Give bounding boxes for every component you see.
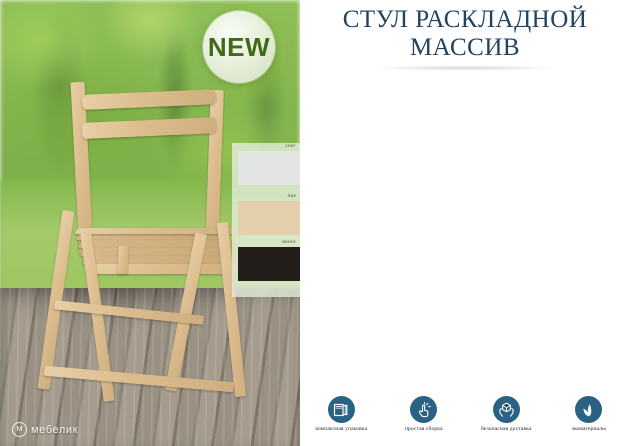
feature-label: простая сборка	[405, 426, 443, 432]
feature-easy-assembly: простая сборка	[383, 396, 466, 446]
logo-text: мебелик	[31, 424, 78, 436]
brand-logo: M мебелик	[12, 422, 78, 437]
product-photo: NEW снег лак венге M мебелик	[0, 0, 300, 446]
swatch-chip-snow	[238, 151, 300, 185]
swatch-chip-lacquer	[238, 201, 300, 235]
photo-folding-chair	[20, 82, 250, 392]
info-panel: СТУЛ РАСКЛАДНОЙ МАССИВ	[300, 0, 630, 446]
leaf-icon	[575, 396, 602, 423]
color-swatch-panel: снег лак венге	[232, 143, 300, 297]
feature-compact-packaging: компактная упаковка	[300, 396, 383, 446]
feature-eco-materials: экоматериалы	[548, 396, 630, 446]
new-badge-label: NEW	[208, 32, 270, 63]
swatch-label-wenge: венге	[282, 239, 296, 244]
swatch-label-lacquer: лак	[288, 193, 296, 198]
package-hands-icon	[493, 396, 520, 423]
feature-label: компактная упаковка	[315, 426, 367, 432]
swatch-chip-wenge	[238, 247, 300, 281]
title-line-1: СТУЛ РАСКЛАДНОЙ	[343, 6, 588, 33]
new-badge: NEW	[203, 11, 275, 83]
title-underline-shadow	[338, 64, 592, 72]
ruler-box-icon	[328, 396, 355, 423]
feature-label: безопасная доставка	[481, 426, 532, 432]
feature-label: экоматериалы	[572, 426, 606, 432]
product-infographic: NEW снег лак венге M мебелик СТУЛ РА	[0, 0, 630, 446]
logo-mark-icon: M	[12, 422, 27, 437]
title-line-2: МАССИВ	[300, 34, 630, 62]
hand-tap-icon	[410, 396, 437, 423]
feature-safe-delivery: безопасная доставка	[465, 396, 548, 446]
feature-list: компактная упаковка простая сборка б	[300, 396, 630, 446]
page-title: СТУЛ РАСКЛАДНОЙ МАССИВ	[300, 6, 630, 62]
swatch-label-snow: снег	[285, 143, 296, 148]
